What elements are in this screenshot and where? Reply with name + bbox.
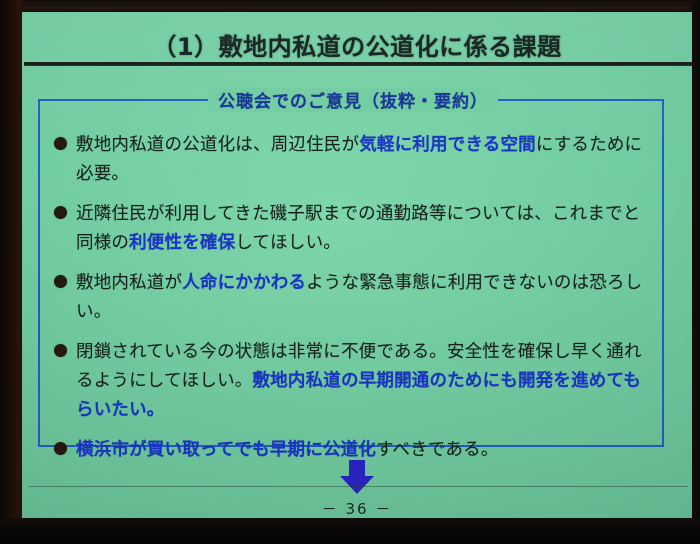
list-item-text: 閉鎖されている今の状態は非常に不便である。安全性を確保し早く通れるようにしてほし… [76, 338, 654, 425]
footer-divider [28, 486, 688, 487]
photo-frame-left [0, 0, 24, 544]
list-item: 敷地内私道が人命にかかわるような緊急事態に利用できないのは恐ろしい。 [54, 269, 654, 327]
list-item: 近隣住民が利用してきた磯子駅までの通勤路等については、これまでと同様の利便性を確… [54, 200, 654, 258]
highlighted-phrase: 気軽に利用できる空間 [359, 135, 536, 155]
page-title: （1）敷地内私道の公道化に係る課題 [152, 27, 561, 62]
title-divider [24, 62, 692, 66]
bullet-point-icon [54, 275, 67, 288]
plain-phrase: 敷地内私道の公道化は、周辺住民が [76, 135, 359, 155]
list-item: 敷地内私道の公道化は、周辺住民が気軽に利用できる空間にするために必要。 [54, 131, 654, 189]
list-item-text: 近隣住民が利用してきた磯子駅までの通勤路等については、これまでと同様の利便性を確… [76, 200, 654, 258]
slide-surface: （1）敷地内私道の公道化に係る課題 公聴会でのご意見（抜粋・要約） 敷地内私道の… [22, 12, 692, 518]
bullet-point-icon [54, 137, 67, 150]
bullet-point-icon [54, 442, 67, 455]
box-heading: 公聴会でのご意見（抜粋・要約） [208, 87, 498, 112]
projected-slide-photo: （1）敷地内私道の公道化に係る課題 公聴会でのご意見（抜粋・要約） 敷地内私道の… [0, 0, 700, 544]
highlighted-phrase: 人命にかかわる [182, 273, 306, 293]
opinion-list: 敷地内私道の公道化は、周辺住民が気軽に利用できる空間にするために必要。近隣住民が… [54, 131, 654, 476]
list-item-text: 敷地内私道の公道化は、周辺住民が気軽に利用できる空間にするために必要。 [76, 131, 654, 189]
plain-phrase: 敷地内私道が [76, 273, 182, 293]
photo-frame-bottom [0, 518, 700, 544]
plain-phrase: してほしい。 [235, 233, 341, 253]
list-item: 閉鎖されている今の状態は非常に不便である。安全性を確保し早く通れるようにしてほし… [54, 338, 654, 425]
bullet-point-icon [54, 206, 67, 219]
page-number: － 36 － [22, 498, 692, 519]
list-item-text: 敷地内私道が人命にかかわるような緊急事態に利用できないのは恐ろしい。 [76, 269, 654, 327]
bullet-point-icon [54, 344, 67, 357]
public-hearing-opinions-box: 公聴会でのご意見（抜粋・要約） 敷地内私道の公道化は、周辺住民が気軽に利用できる… [38, 99, 664, 447]
down-arrow-icon [340, 460, 374, 494]
down-arrow-shaft [349, 460, 365, 477]
highlighted-phrase: 横浜市が買い取ってでも早期に公道化 [76, 440, 376, 460]
plain-phrase: すべきである。 [376, 440, 499, 460]
down-arrow-head [340, 476, 374, 494]
box-heading-wrapper: 公聴会でのご意見（抜粋・要約） [40, 87, 666, 112]
slide-title-bar: （1）敷地内私道の公道化に係る課題 [22, 20, 692, 68]
highlighted-phrase: 利便性を確保 [129, 233, 235, 253]
